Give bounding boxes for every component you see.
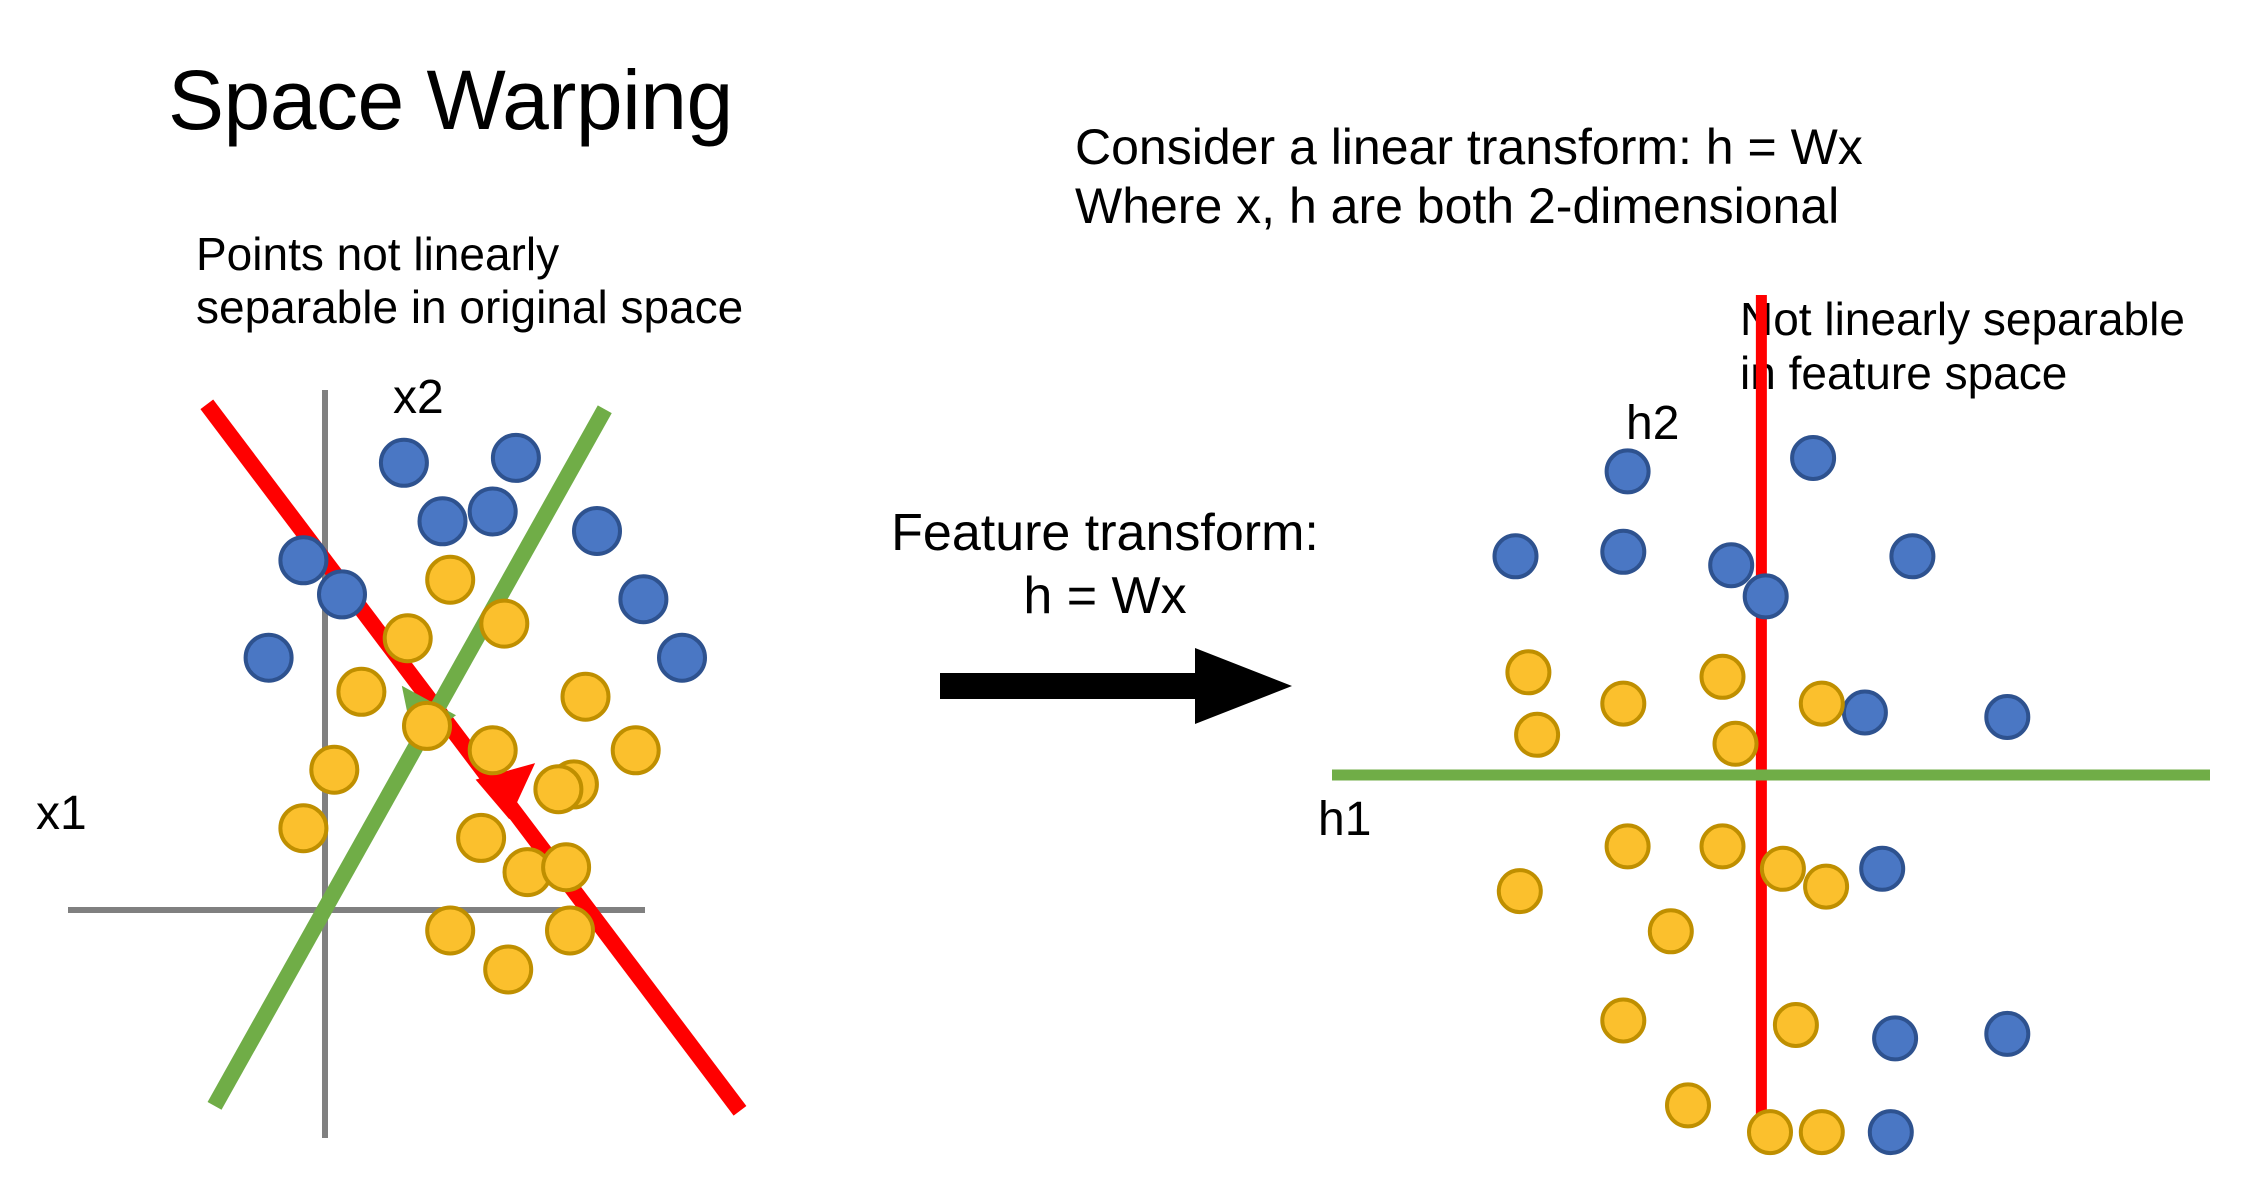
data-point-class-blue: [1607, 450, 1649, 492]
right-header-line-1: Consider a linear transform: h = Wx: [1075, 118, 1863, 177]
data-point-class-blue: [1710, 544, 1752, 586]
data-point-class-yellow: [311, 747, 357, 793]
data-point-class-blue: [493, 435, 539, 481]
data-point-class-yellow: [1801, 683, 1843, 725]
transform-label-text: Feature transform:: [891, 504, 1319, 562]
data-point-class-yellow: [535, 766, 581, 812]
data-point-class-blue: [620, 576, 666, 622]
left-caption: Points not linearly separable in origina…: [196, 228, 743, 335]
data-point-class-yellow: [1602, 683, 1644, 725]
right-caption-line-2: in feature space: [1740, 346, 2185, 400]
data-point-class-blue: [1870, 1111, 1912, 1153]
data-point-class-yellow: [563, 674, 609, 720]
data-point-class-blue: [1874, 1017, 1916, 1059]
page-title: Space Warping: [168, 58, 733, 142]
arrow-right-icon: [940, 648, 1292, 724]
data-point-class-blue: [470, 489, 516, 535]
data-point-class-yellow: [338, 669, 384, 715]
data-point-class-yellow: [1801, 1111, 1843, 1153]
scatter-plot-original-space: [60, 380, 910, 1140]
data-point-class-blue: [420, 498, 466, 544]
right-caption-line-1: Not linearly separable: [1740, 292, 2185, 346]
data-point-class-yellow: [470, 727, 516, 773]
slide-canvas: Space Warping Points not linearly separa…: [0, 0, 2266, 1182]
data-point-class-yellow: [1805, 866, 1847, 908]
data-point-class-blue: [246, 635, 292, 681]
data-point-class-blue: [1861, 848, 1903, 890]
data-point-class-yellow: [280, 805, 326, 851]
data-point-class-blue: [574, 508, 620, 554]
left-caption-line-2: separable in original space: [196, 281, 743, 334]
data-point-class-blue: [280, 537, 326, 583]
data-point-class-blue: [319, 571, 365, 617]
data-point-class-yellow: [427, 557, 473, 603]
data-point-class-blue: [1986, 1013, 2028, 1055]
data-point-class-yellow: [427, 908, 473, 954]
transform-arrow-icon: [940, 640, 1300, 730]
boundary-lines-feature-space: [1332, 295, 2210, 1150]
data-point-class-yellow: [547, 908, 593, 954]
data-point-class-blue: [1495, 535, 1537, 577]
data-point-class-yellow: [1702, 825, 1744, 867]
data-point-class-blue: [1792, 437, 1834, 479]
data-point-class-blue: [1844, 692, 1886, 734]
data-point-class-yellow: [481, 601, 527, 647]
data-point-class-yellow: [404, 703, 450, 749]
right-caption: Not linearly separable in feature space: [1740, 292, 2185, 401]
data-point-class-yellow: [1650, 910, 1692, 952]
data-point-class-yellow: [1602, 1000, 1644, 1042]
scatter-plot-feature-space: [1330, 400, 2210, 1150]
transform-equation: h = Wx: [845, 565, 1365, 628]
feature-transform-label: Feature transform: h = Wx: [845, 502, 1365, 629]
data-point-class-yellow: [1607, 825, 1649, 867]
data-point-class-yellow: [1507, 651, 1549, 693]
left-caption-line-1: Points not linearly: [196, 228, 743, 281]
data-point-class-yellow: [1715, 723, 1757, 765]
data-point-class-blue: [659, 635, 705, 681]
data-point-class-blue: [381, 440, 427, 486]
data-point-class-yellow: [1775, 1004, 1817, 1046]
green-boundary: [215, 409, 605, 1106]
data-point-class-yellow: [613, 727, 659, 773]
data-point-class-yellow: [385, 615, 431, 661]
right-header-line-2: Where x, h are both 2-dimensional: [1075, 177, 1863, 236]
data-point-class-blue: [1986, 696, 2028, 738]
data-point-class-yellow: [485, 947, 531, 993]
data-point-class-blue: [1745, 575, 1787, 617]
data-point-class-yellow: [1516, 714, 1558, 756]
data-point-class-yellow: [1702, 656, 1744, 698]
right-header: Consider a linear transform: h = Wx Wher…: [1075, 118, 1863, 236]
data-point-class-blue: [1602, 531, 1644, 573]
data-point-class-yellow: [458, 815, 504, 861]
data-point-class-yellow: [1667, 1084, 1709, 1126]
data-point-class-yellow: [543, 844, 589, 890]
data-point-class-yellow: [1499, 870, 1541, 912]
data-point-class-yellow: [1749, 1111, 1791, 1153]
data-point-class-blue: [1891, 535, 1933, 577]
data-point-class-yellow: [1762, 848, 1804, 890]
